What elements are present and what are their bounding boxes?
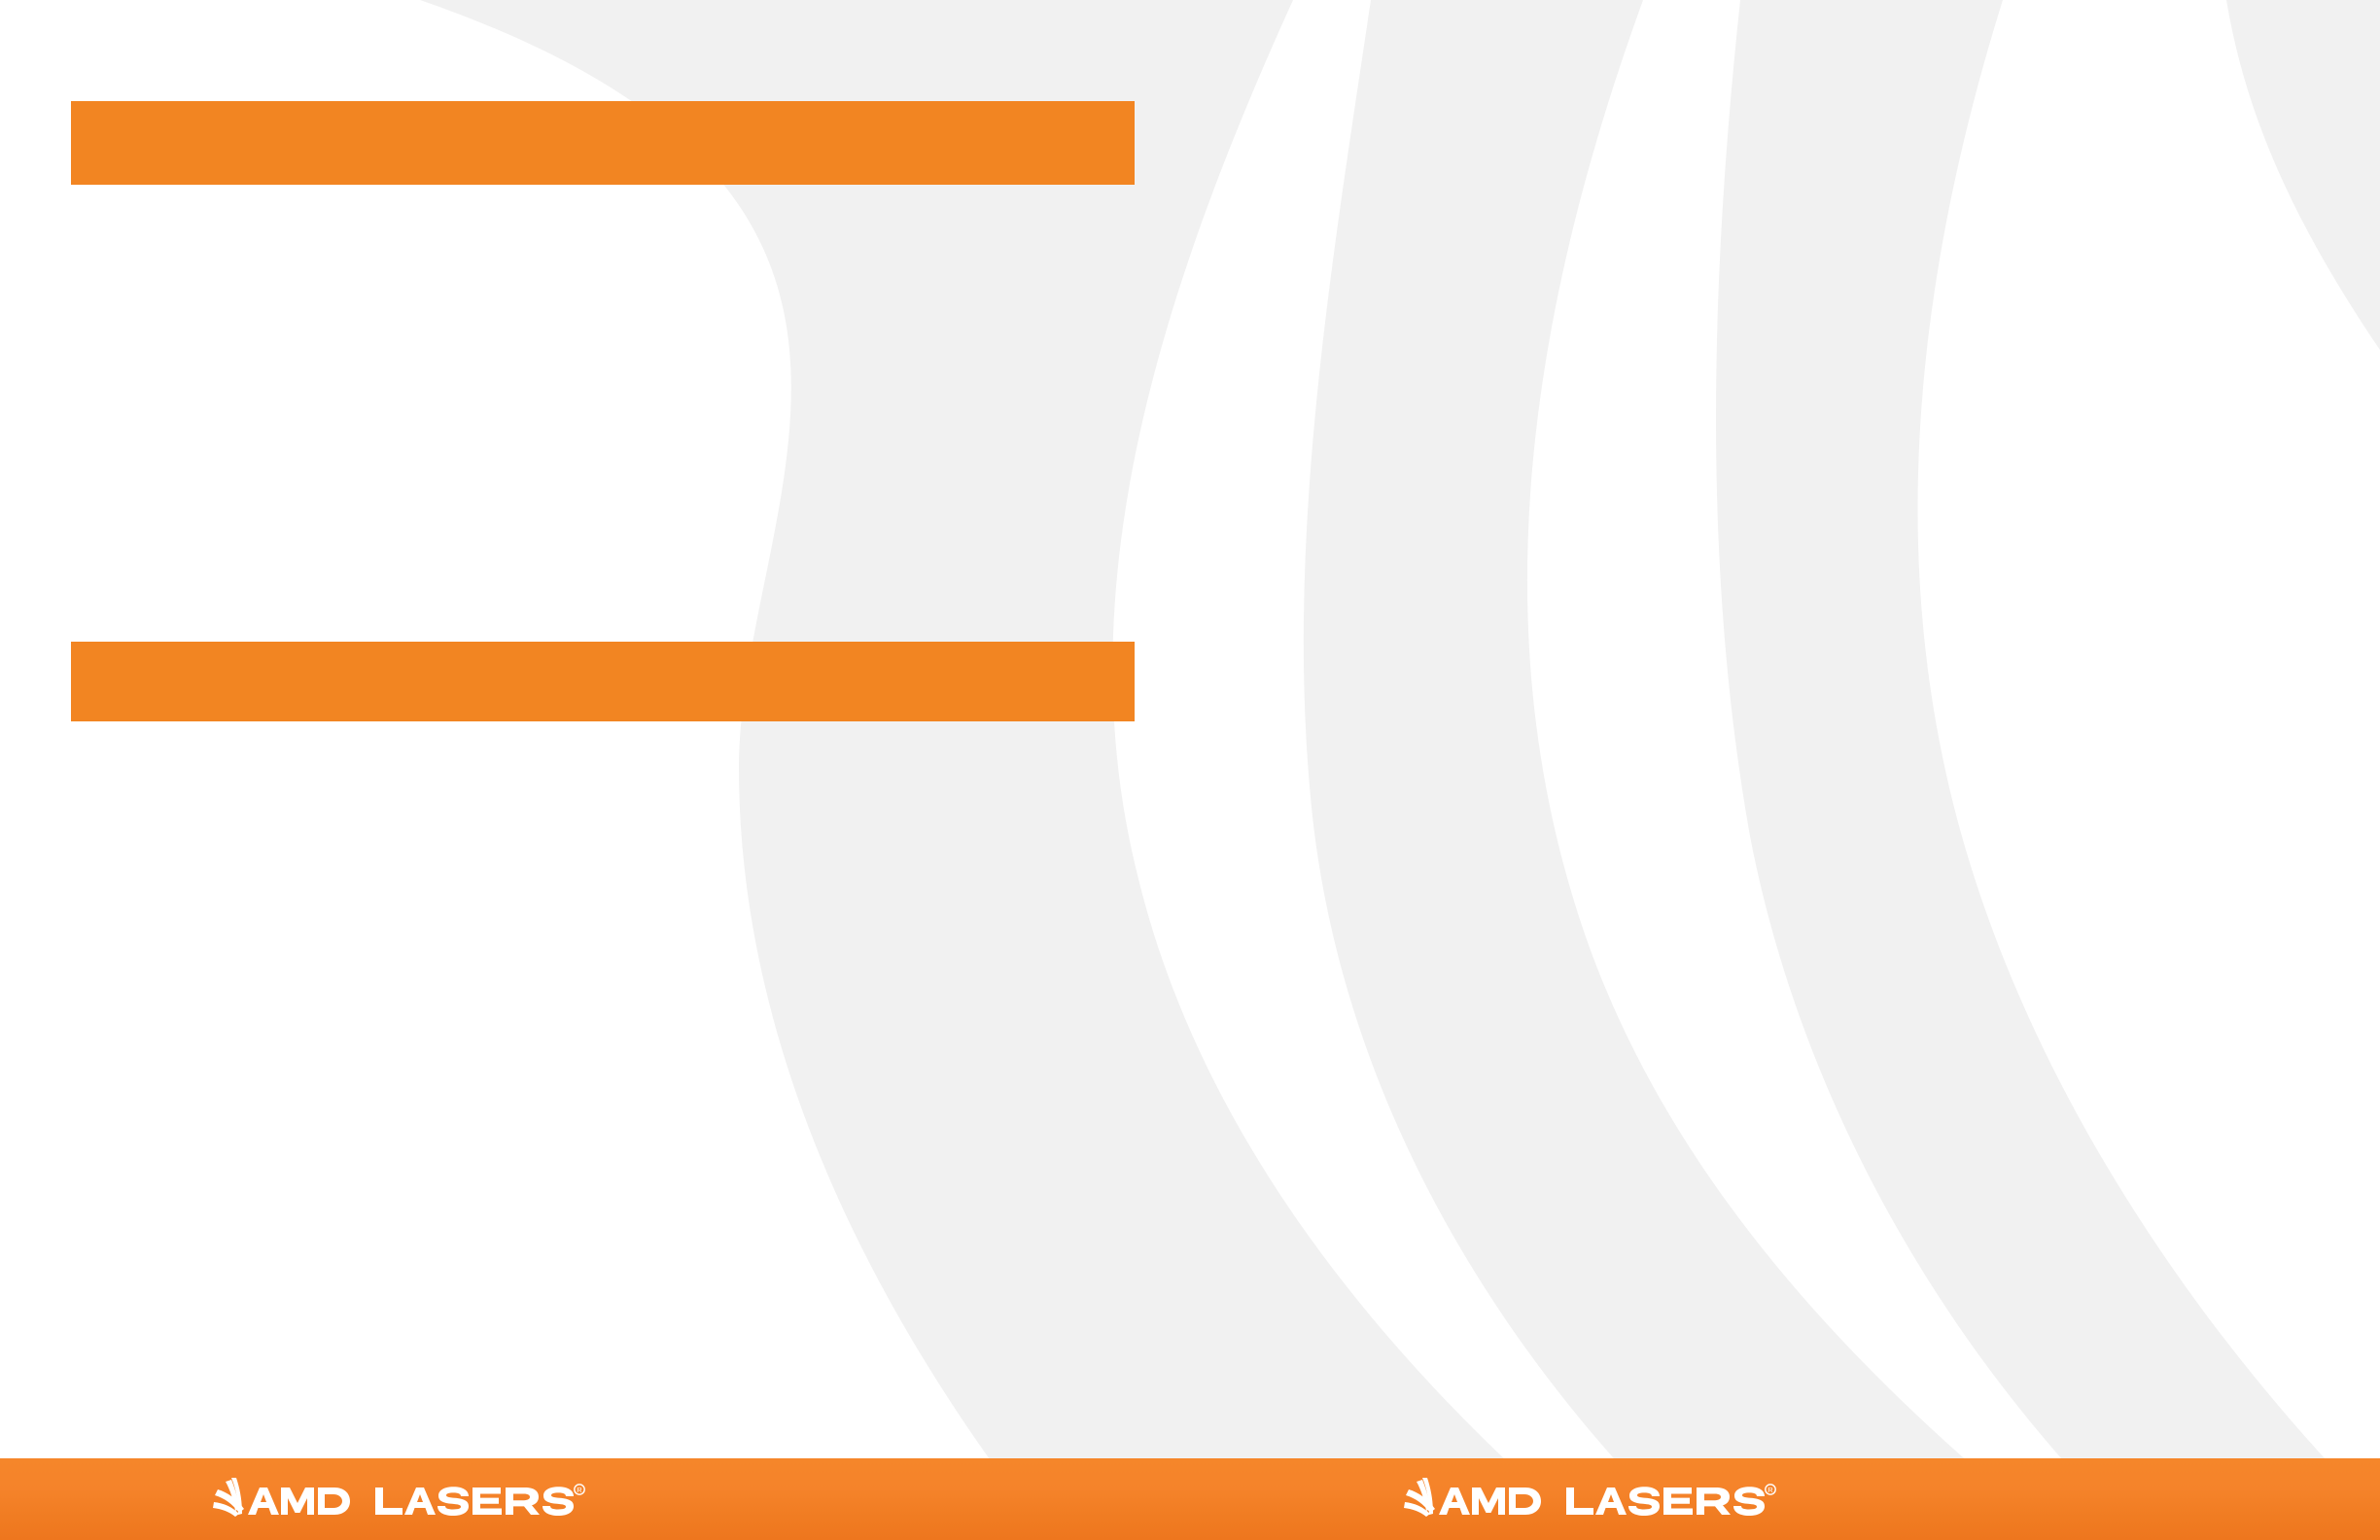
swoosh-bands-decoration [0,0,2380,1540]
amd-lasers-logo: R [212,1476,586,1522]
footer-bar: R [0,1458,2380,1540]
presentation-slide: R [0,0,2380,1540]
svg-text:R: R [1767,1486,1773,1494]
title-placeholder-bar[interactable] [71,101,1135,185]
svg-text:R: R [577,1486,582,1494]
subtitle-placeholder-bar[interactable] [71,642,1135,721]
amd-lasers-logo: R [1403,1476,1777,1522]
